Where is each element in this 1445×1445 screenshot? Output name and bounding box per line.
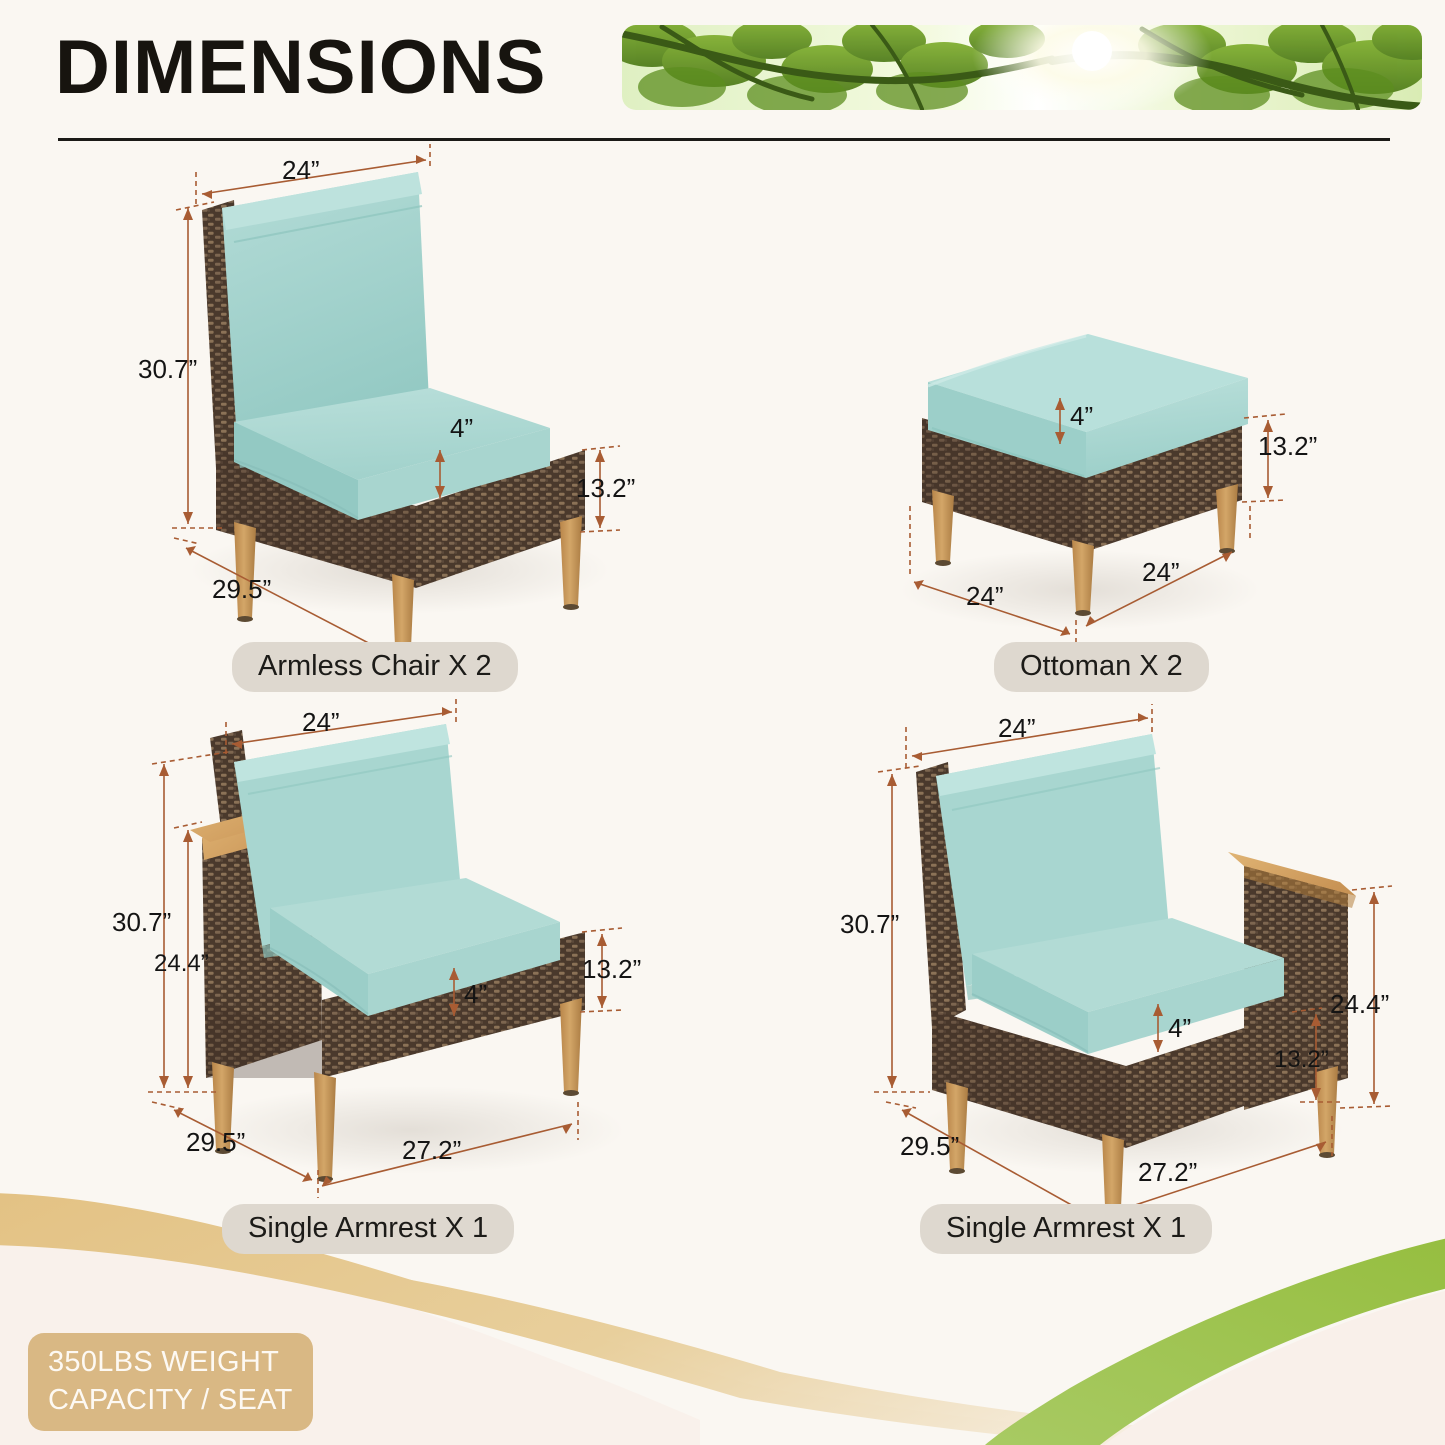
weight-capacity-line-1: 350LBS WEIGHT (48, 1343, 293, 1381)
product-label-single-armrest-left: Single Armrest X 1 (222, 1204, 514, 1254)
product-label-armless-chair: Armless Chair X 2 (232, 642, 518, 692)
dim-ottoman-height-total: 13.2” (1258, 432, 1317, 460)
dim-armrestL-depth: 29.5” (186, 1128, 245, 1156)
dim-ottoman-depth-side: 24” (1142, 558, 1180, 586)
dim-armrestR-width-top: 24” (998, 714, 1036, 742)
product-cell-ottoman: 4” 13.2” 24” 24” Ottoman X 2 (880, 290, 1300, 690)
dim-armrestL-arm-height: 24.4” (154, 950, 209, 978)
dim-armrestR-depth: 29.5” (900, 1132, 959, 1160)
dim-armrestL-width-top: 24” (302, 708, 340, 736)
armless-chair-illustration (130, 150, 690, 690)
product-cell-single-armrest-right: 24” 30.7” 4” 24.4” 13.2” 29.5” 27.2” Sin… (840, 710, 1410, 1250)
page-header: DIMENSIONS (0, 0, 1445, 150)
dim-armrestL-width-front: 27.2” (402, 1136, 461, 1164)
dim-armrestR-width-front: 27.2” (1138, 1158, 1197, 1186)
dim-armrestL-base-height: 13.2” (582, 955, 641, 983)
tree-canopy-banner-image (622, 25, 1422, 110)
dim-ottoman-cushion-thickness: 4” (1070, 402, 1093, 430)
header-divider (58, 138, 1390, 141)
dim-armrestR-arm-height: 24.4” (1330, 990, 1389, 1018)
dim-armrestL-height-total: 30.7” (112, 908, 171, 936)
dimensions-infographic: DIMENSIONS (0, 0, 1445, 1445)
product-label-single-armrest-right: Single Armrest X 1 (920, 1204, 1212, 1254)
dim-armless-width-top: 24” (282, 156, 320, 184)
page-title: DIMENSIONS (55, 18, 546, 118)
dim-armless-height-total: 30.7” (138, 355, 197, 383)
weight-capacity-badge: 350LBS WEIGHT CAPACITY / SEAT (28, 1333, 313, 1431)
product-label-ottoman: Ottoman X 2 (994, 642, 1209, 692)
dim-armrestR-height-total: 30.7” (840, 910, 899, 938)
dim-armless-cushion-thickness: 4” (450, 414, 473, 442)
product-cell-armless-chair: 24” 30.7” 4” 13.2” 29.5” Armless Chair X… (130, 150, 690, 690)
product-cell-single-armrest-left: 24” 30.7” 24.4” 4” 13.2” 29.5” 27.2” Sin… (130, 710, 690, 1250)
dim-armless-depth: 29.5” (212, 575, 271, 603)
dim-armrestR-base-height: 13.2” (1274, 1046, 1329, 1074)
dim-ottoman-width-front: 24” (966, 582, 1004, 610)
single-armrest-right-illustration (840, 710, 1410, 1250)
weight-capacity-line-2: CAPACITY / SEAT (48, 1381, 293, 1419)
dim-armrestL-cushion-thickness: 4” (464, 980, 487, 1008)
dim-armless-base-height: 13.2” (576, 474, 635, 502)
ottoman-illustration (880, 290, 1300, 690)
dim-armrestR-cushion-thickness: 4” (1168, 1014, 1191, 1042)
